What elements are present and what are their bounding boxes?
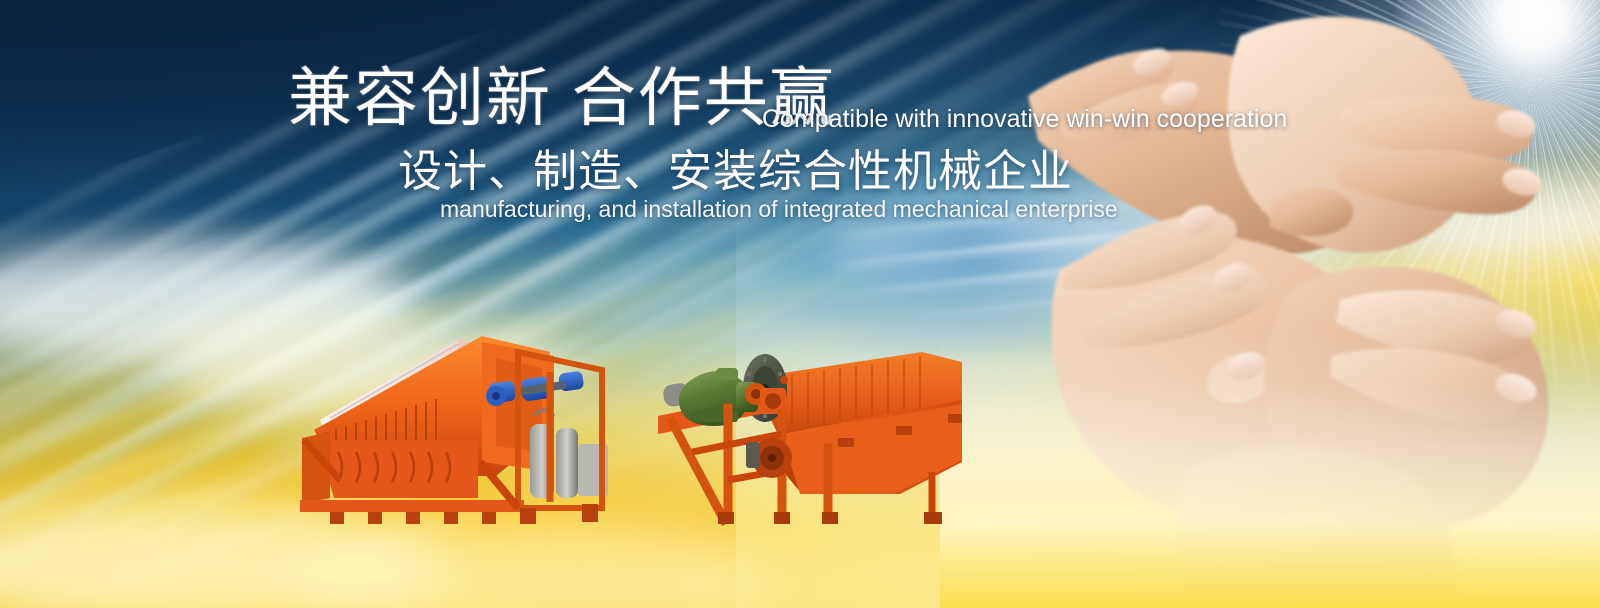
ceramic-disc-filter-machine	[282, 312, 632, 544]
headline-english: Compatible with innovative win-win coope…	[762, 107, 1287, 132]
hero-banner: 兼容创新 合作共赢 Compatible with innovative win…	[0, 0, 1600, 608]
magnetic-separator-machine	[632, 330, 977, 526]
stacked-hands-image	[940, 0, 1600, 608]
headline-chinese: 兼容创新 合作共赢	[288, 66, 836, 130]
subheadline-chinese: 设计、制造、安装综合性机械企业	[398, 150, 1073, 194]
subheadline-english: manufacturing, and installation of integ…	[440, 198, 1118, 221]
